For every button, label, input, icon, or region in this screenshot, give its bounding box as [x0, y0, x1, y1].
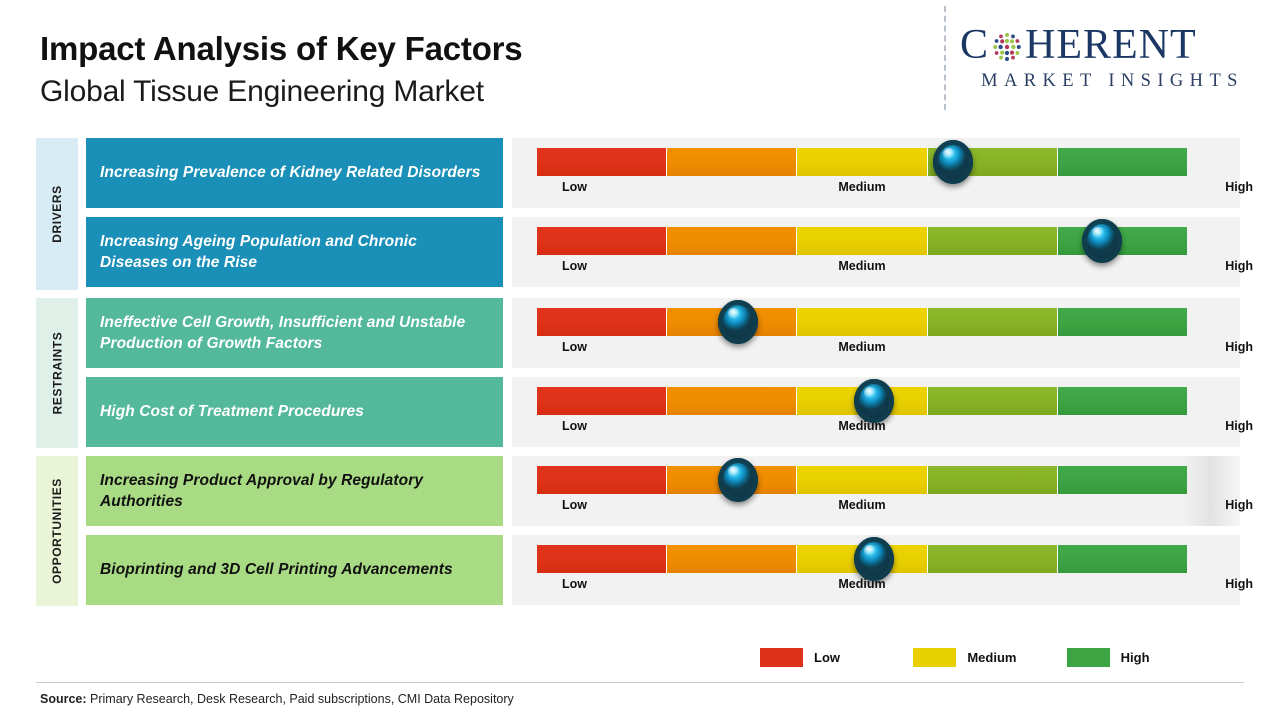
impact-gauge: Low Medium High	[512, 298, 1240, 368]
legend-label-medium: Medium	[967, 650, 1016, 665]
scale-label-low: Low	[562, 419, 587, 433]
impact-gauge: Low Medium High	[512, 456, 1240, 526]
impact-marker[interactable]	[1082, 219, 1122, 263]
source-note: Source: Primary Research, Desk Research,…	[40, 692, 514, 706]
gauge-segment-low	[537, 308, 667, 336]
gauge-bar	[537, 308, 1187, 336]
factor-label: Increasing Prevalence of Kidney Related …	[86, 138, 503, 208]
title-block: Impact Analysis of Key Factors Global Ti…	[40, 30, 522, 110]
factor-label: Increasing Product Approval by Regulator…	[86, 456, 503, 526]
gauge-segment-low	[537, 148, 667, 176]
scale-label-low: Low	[562, 498, 587, 512]
source-text: Primary Research, Desk Research, Paid su…	[87, 692, 514, 706]
scale-label-low: Low	[562, 180, 587, 194]
page-subtitle: Global Tissue Engineering Market	[40, 73, 522, 111]
gauge-segment-low	[537, 545, 667, 573]
gauge-segment-high	[1058, 308, 1187, 336]
table-row: Increasing Ageing Population and Chronic…	[0, 217, 1280, 295]
factor-label: Bioprinting and 3D Cell Printing Advance…	[86, 535, 503, 605]
scale-label-medium: Medium	[838, 259, 885, 273]
scale-label-medium: Medium	[838, 498, 885, 512]
gauge-segment-low	[537, 227, 667, 255]
impact-gauge: Low Medium High	[512, 377, 1240, 447]
gauge-bar	[537, 148, 1187, 176]
legend-label-high: High	[1121, 650, 1150, 665]
gauge-segment-medium-high	[928, 466, 1058, 494]
gauge-segment-low-medium	[667, 545, 797, 573]
impact-marker[interactable]	[854, 379, 894, 423]
gauge-segment-high	[1058, 227, 1187, 255]
impact-matrix: DRIVERS Increasing Prevalence of Kidney …	[0, 138, 1280, 614]
scale-label-high: High	[1225, 498, 1253, 512]
legend: Low Medium High	[760, 644, 1220, 670]
gauge-segment-low-medium	[667, 148, 797, 176]
gauge-segment-medium-high	[928, 308, 1058, 336]
gauge-scale: Low Medium High	[537, 340, 1187, 360]
scale-label-medium: Medium	[838, 180, 885, 194]
page-title: Impact Analysis of Key Factors	[40, 30, 522, 69]
gauge-segment-medium	[797, 148, 927, 176]
source-label: Source:	[40, 692, 87, 706]
category-group-drivers: DRIVERS Increasing Prevalence of Kidney …	[0, 138, 1280, 298]
footer-divider	[36, 682, 1244, 683]
gauge-scale: Low Medium High	[537, 498, 1187, 518]
legend-item-high: High	[1067, 648, 1220, 667]
gauge-segment-high	[1058, 545, 1187, 573]
scale-label-high: High	[1225, 419, 1253, 433]
impact-marker[interactable]	[854, 537, 894, 581]
scale-label-high: High	[1225, 340, 1253, 354]
logo-divider	[944, 6, 946, 110]
table-row: Increasing Product Approval by Regulator…	[0, 456, 1280, 534]
page-header: Impact Analysis of Key Factors Global Ti…	[0, 0, 1280, 132]
scale-label-high: High	[1225, 259, 1253, 273]
gauge-scale: Low Medium High	[537, 577, 1187, 597]
factor-label: High Cost of Treatment Procedures	[86, 377, 503, 447]
legend-swatch-medium	[913, 648, 956, 667]
scale-label-high: High	[1225, 180, 1253, 194]
table-row: Ineffective Cell Growth, Insufficient an…	[0, 298, 1280, 376]
impact-marker[interactable]	[718, 458, 758, 502]
gauge-segment-medium	[797, 227, 927, 255]
logo-letters-rest: HERENT	[1025, 24, 1197, 66]
legend-swatch-high	[1067, 648, 1110, 667]
scale-label-low: Low	[562, 577, 587, 591]
gauge-bar	[537, 466, 1187, 494]
gauge-segment-low	[537, 466, 667, 494]
legend-swatch-low	[760, 648, 803, 667]
gauge-scale: Low Medium High	[537, 180, 1187, 200]
gauge-segment-medium-high	[928, 387, 1058, 415]
gauge-segment-medium-high	[928, 545, 1058, 573]
scale-label-low: Low	[562, 340, 587, 354]
brand-logo: C	[960, 24, 1265, 92]
category-group-restraints: RESTRAINTS Ineffective Cell Growth, Insu…	[0, 298, 1280, 456]
table-row: Bioprinting and 3D Cell Printing Advance…	[0, 535, 1280, 613]
gauge-segment-medium-high	[928, 227, 1058, 255]
scale-label-high: High	[1225, 577, 1253, 591]
scale-label-low: Low	[562, 259, 587, 273]
table-row: Increasing Prevalence of Kidney Related …	[0, 138, 1280, 216]
gauge-segment-medium	[797, 466, 927, 494]
logo-tagline: MARKET INSIGHTS	[960, 71, 1265, 92]
gauge-segment-high	[1058, 387, 1187, 415]
gauge-segment-high	[1058, 466, 1187, 494]
factor-label: Ineffective Cell Growth, Insufficient an…	[86, 298, 503, 368]
legend-item-medium: Medium	[913, 648, 1066, 667]
logo-letter-c: C	[960, 24, 989, 66]
impact-gauge: Low Medium High	[512, 217, 1240, 287]
scale-label-medium: Medium	[838, 340, 885, 354]
table-row: High Cost of Treatment Procedures Low Me…	[0, 377, 1280, 455]
legend-label-low: Low	[814, 650, 840, 665]
scale-label-medium: Medium	[838, 419, 885, 433]
factor-label: Increasing Ageing Population and Chronic…	[86, 217, 503, 287]
legend-item-low: Low	[760, 648, 913, 667]
scale-label-medium: Medium	[838, 577, 885, 591]
impact-gauge: Low Medium High	[512, 535, 1240, 605]
gauge-segment-high	[1058, 148, 1187, 176]
impact-marker[interactable]	[718, 300, 758, 344]
gauge-segment-medium	[797, 308, 927, 336]
gauge-segment-low	[537, 387, 667, 415]
gauge-scale: Low Medium High	[537, 419, 1187, 439]
gauge-segment-low-medium	[667, 387, 797, 415]
impact-marker[interactable]	[933, 140, 973, 184]
dotted-globe-icon	[990, 30, 1024, 64]
gauge-segment-low-medium	[667, 227, 797, 255]
impact-gauge: Low Medium High	[512, 138, 1240, 208]
category-group-opportunities: OPPORTUNITIES Increasing Product Approva…	[0, 456, 1280, 614]
logo-wordmark: C	[960, 24, 1265, 66]
gauge-scale: Low Medium High	[537, 259, 1187, 279]
